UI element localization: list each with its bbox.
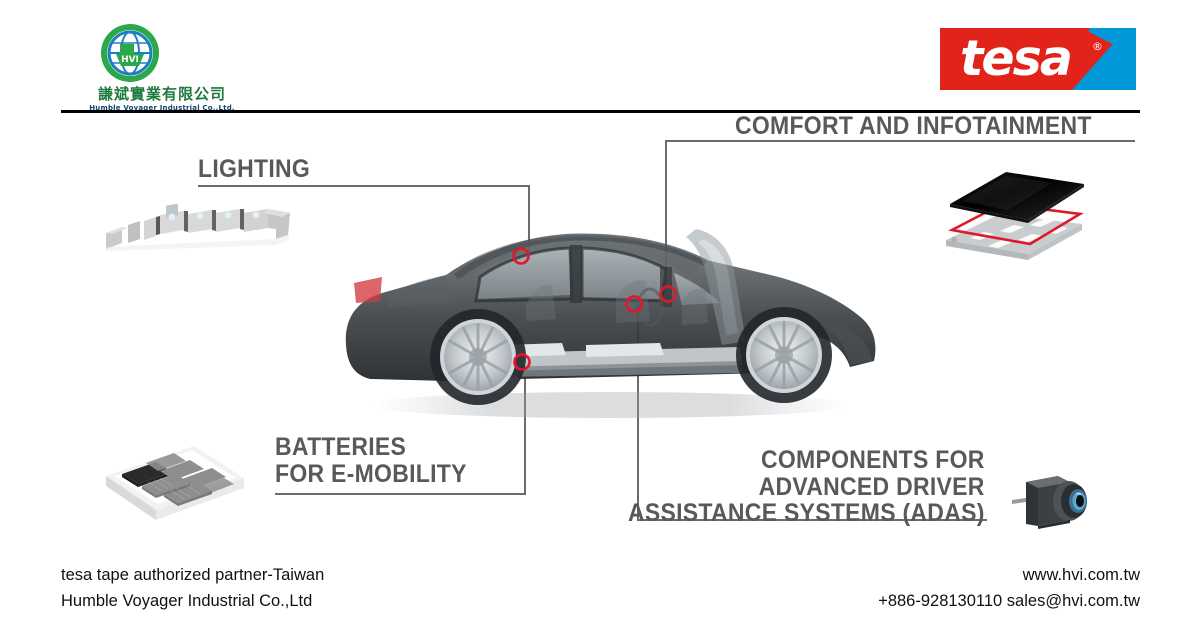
footer-company-line: Humble Voyager Industrial Co.,Ltd xyxy=(61,588,324,614)
poster-canvas: HVI 謙斌實業有限公司 Humble Voyager Industrial C… xyxy=(0,0,1200,627)
footer-contact[interactable]: +886-928130110 sales@hvi.com.tw xyxy=(878,588,1140,614)
marker-overlay xyxy=(0,0,1200,627)
sill-marker xyxy=(515,355,530,370)
footer-right: www.hvi.com.tw +886-928130110 sales@hvi.… xyxy=(878,562,1140,614)
footer-partner-line: tesa tape authorized partner-Taiwan xyxy=(61,562,324,588)
footer-left: tesa tape authorized partner-Taiwan Humb… xyxy=(61,562,324,614)
door-marker xyxy=(661,287,676,302)
footer-website[interactable]: www.hvi.com.tw xyxy=(878,562,1140,588)
b-pillar-marker xyxy=(627,297,642,312)
roof-marker xyxy=(514,249,529,264)
